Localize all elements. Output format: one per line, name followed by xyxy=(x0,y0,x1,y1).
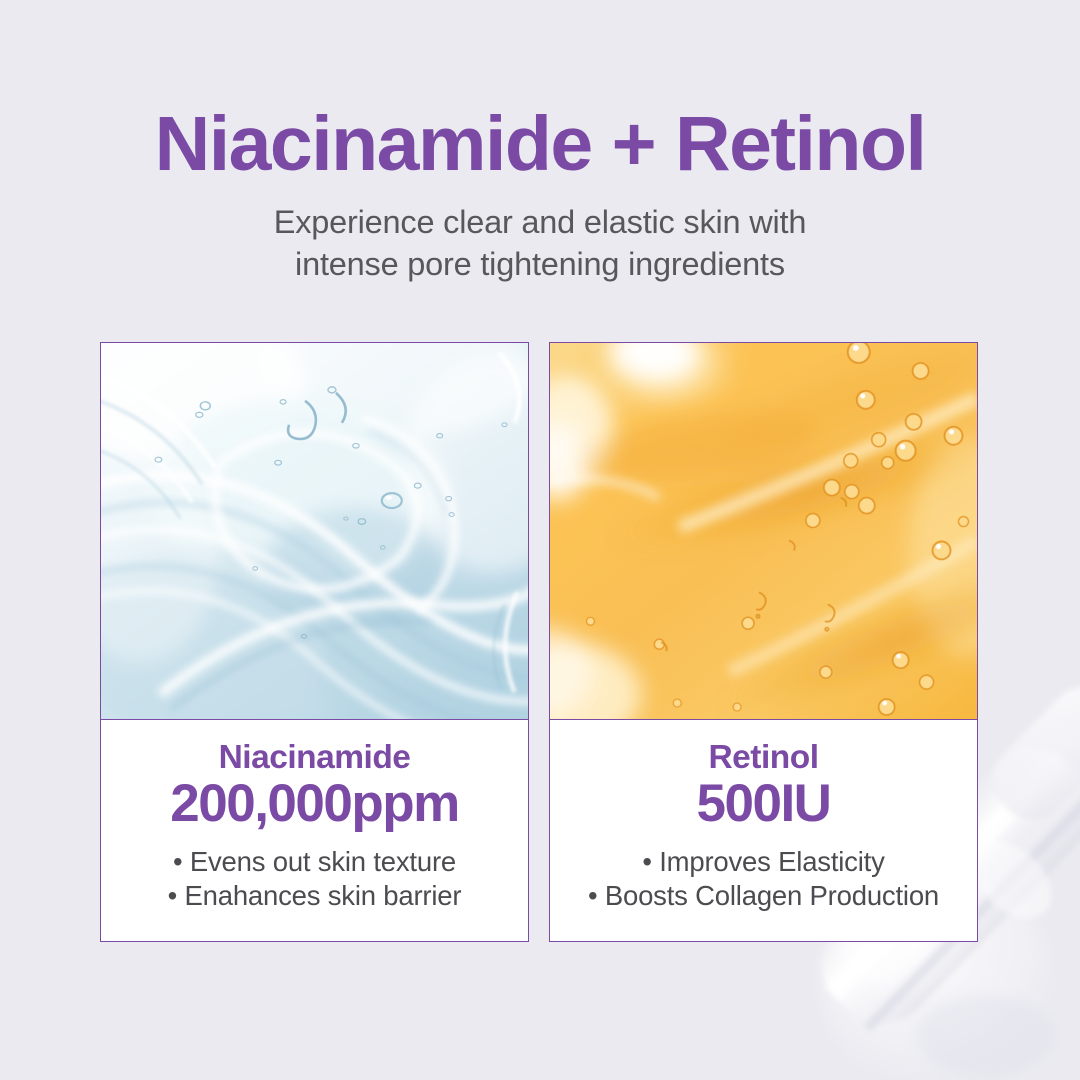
orange-gel-texture-swatch xyxy=(550,343,977,720)
ingredient-card-row: Niacinamide 200,000ppm • Evens out skin … xyxy=(100,342,978,942)
blue-gel-texture-swatch xyxy=(101,343,528,720)
list-item: • Enahances skin barrier xyxy=(101,879,528,913)
ingredient-name: Retinol xyxy=(550,739,977,777)
card-body: Niacinamide 200,000ppm • Evens out skin … xyxy=(101,720,528,941)
subtitle-line-1: Experience clear and elastic skin with xyxy=(0,201,1080,243)
ingredient-dose: 200,000ppm xyxy=(101,775,528,833)
ingredient-card-niacinamide[interactable]: Niacinamide 200,000ppm • Evens out skin … xyxy=(100,342,529,942)
ingredient-dose: 500IU xyxy=(550,775,977,833)
header-block: Niacinamide + Retinol Experience clear a… xyxy=(0,0,1080,285)
ingredient-card-retinol[interactable]: Retinol 500IU • Improves Elasticity • Bo… xyxy=(549,342,978,942)
card-body: Retinol 500IU • Improves Elasticity • Bo… xyxy=(550,720,977,941)
subtitle-line-2: intense pore tightening ingredients xyxy=(0,243,1080,285)
list-item: • Improves Elasticity xyxy=(550,845,977,879)
ingredient-name: Niacinamide xyxy=(101,739,528,777)
list-item: • Evens out skin texture xyxy=(101,845,528,879)
benefit-list: • Improves Elasticity • Boosts Collagen … xyxy=(550,845,977,913)
page-title: Niacinamide + Retinol xyxy=(0,103,1080,185)
infographic-page: Niacinamide + Retinol Experience clear a… xyxy=(0,0,1080,1080)
list-item: • Boosts Collagen Production xyxy=(550,879,977,913)
page-subtitle: Experience clear and elastic skin with i… xyxy=(0,201,1080,285)
benefit-list: • Evens out skin texture • Enahances ski… xyxy=(101,845,528,913)
